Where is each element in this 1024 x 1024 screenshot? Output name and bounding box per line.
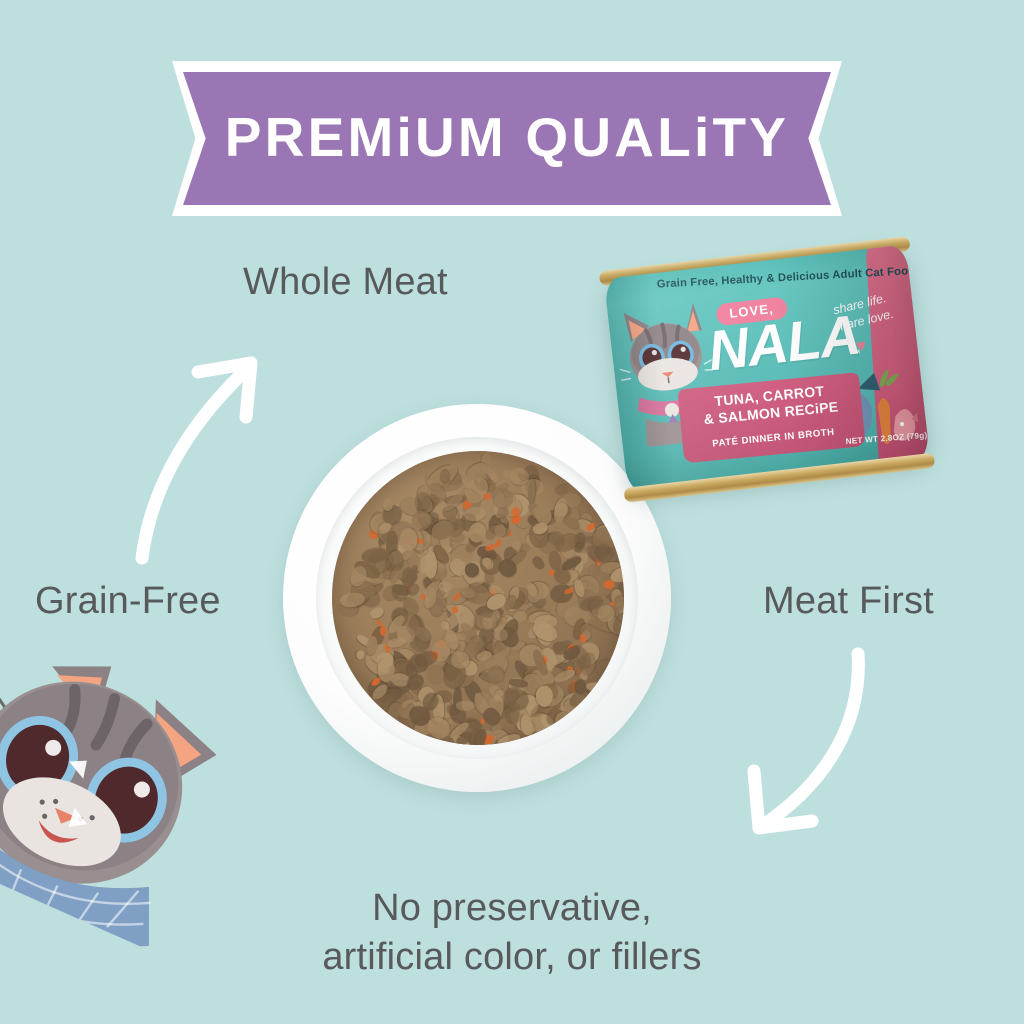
can-sheen-overlay	[604, 244, 930, 493]
food-bowl	[283, 404, 671, 792]
feature-label-meat-first: Meat First	[763, 580, 934, 623]
premium-quality-banner: PREMiUM QUALiTY	[183, 72, 831, 205]
feature-label-whole-meat: Whole Meat	[243, 261, 448, 304]
product-feature-graphic: PREMiUM QUALiTY Whole Meat Grain-Free Me…	[0, 0, 1024, 1024]
can-label: Grain Free, Healthy & Delicious Adult Ca…	[604, 244, 930, 493]
arrow-up-right-icon	[120, 320, 300, 570]
product-can: Grain Free, Healthy & Delicious Adult Ca…	[594, 230, 940, 510]
banner-title: PREMiUM QUALiTY	[183, 72, 831, 205]
cat-food-pate	[332, 451, 625, 746]
arrow-down-left-icon	[690, 640, 880, 850]
feature-label-grain-free: Grain-Free	[35, 580, 221, 623]
food-texture	[332, 451, 625, 746]
